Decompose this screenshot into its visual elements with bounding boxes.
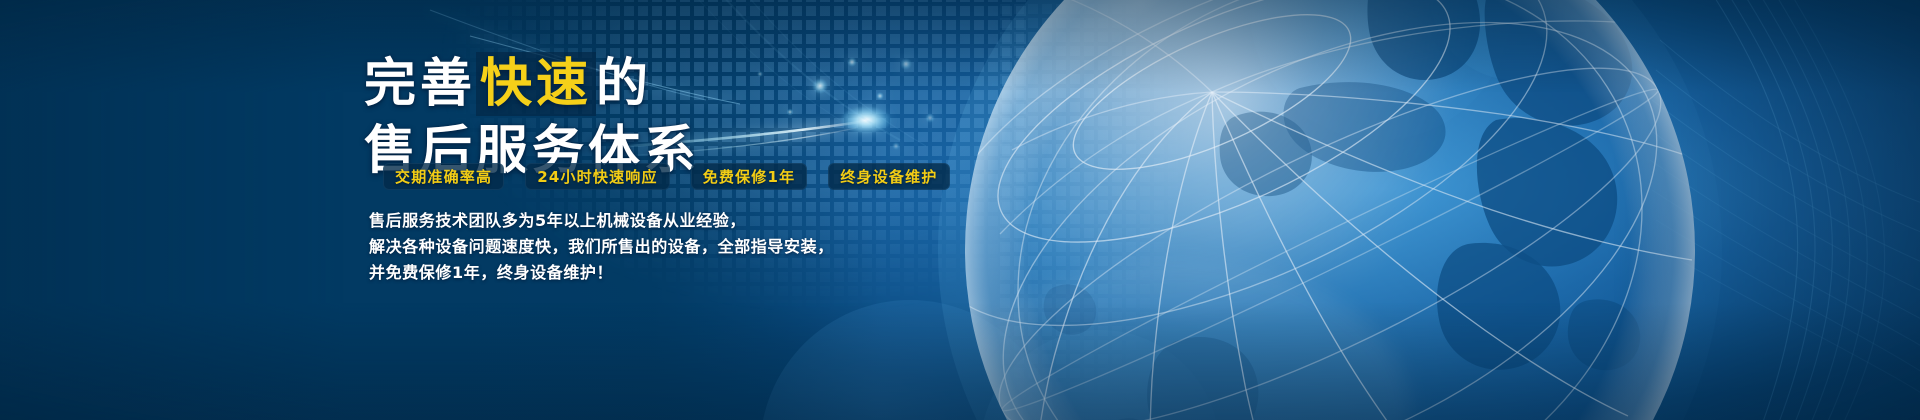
description-line-2: 解决各种设备问题速度快，我们所售出的设备，全部指导安装， [369,234,834,260]
feature-badge-list: 交期准确率高 24小时快速响应 免费保修1年 终身设备维护 [383,163,950,190]
service-banner: 完善快速的 售后服务体系 交期准确率高 24小时快速响应 免费保修1年 终身设备… [0,0,1920,420]
feature-badge-free-warranty[interactable]: 免费保修1年 [691,163,808,190]
feature-badge-delivery-accuracy[interactable]: 交期准确率高 [383,163,504,190]
headline-text-part1: 完善 [364,54,476,114]
copy-block: 完善快速的 售后服务体系 交期准确率高 24小时快速响应 免费保修1年 终身设备… [0,0,1000,420]
description-line-1: 售后服务技术团队多为5年以上机械设备从业经验， [369,208,834,234]
feature-badge-lifetime-maintenance[interactable]: 终身设备维护 [828,163,949,190]
description-line-3: 并免费保修1年，终身设备维护！ [369,260,834,286]
headline-text-part3: 的 [596,54,652,114]
headline-line-1: 完善快速的 [364,54,652,114]
feature-badge-24h-response[interactable]: 24小时快速响应 [525,163,669,190]
description-paragraph: 售后服务技术团队多为5年以上机械设备从业经验， 解决各种设备问题速度快，我们所售… [369,208,834,286]
headline-text-highlight: 快速 [476,52,596,116]
